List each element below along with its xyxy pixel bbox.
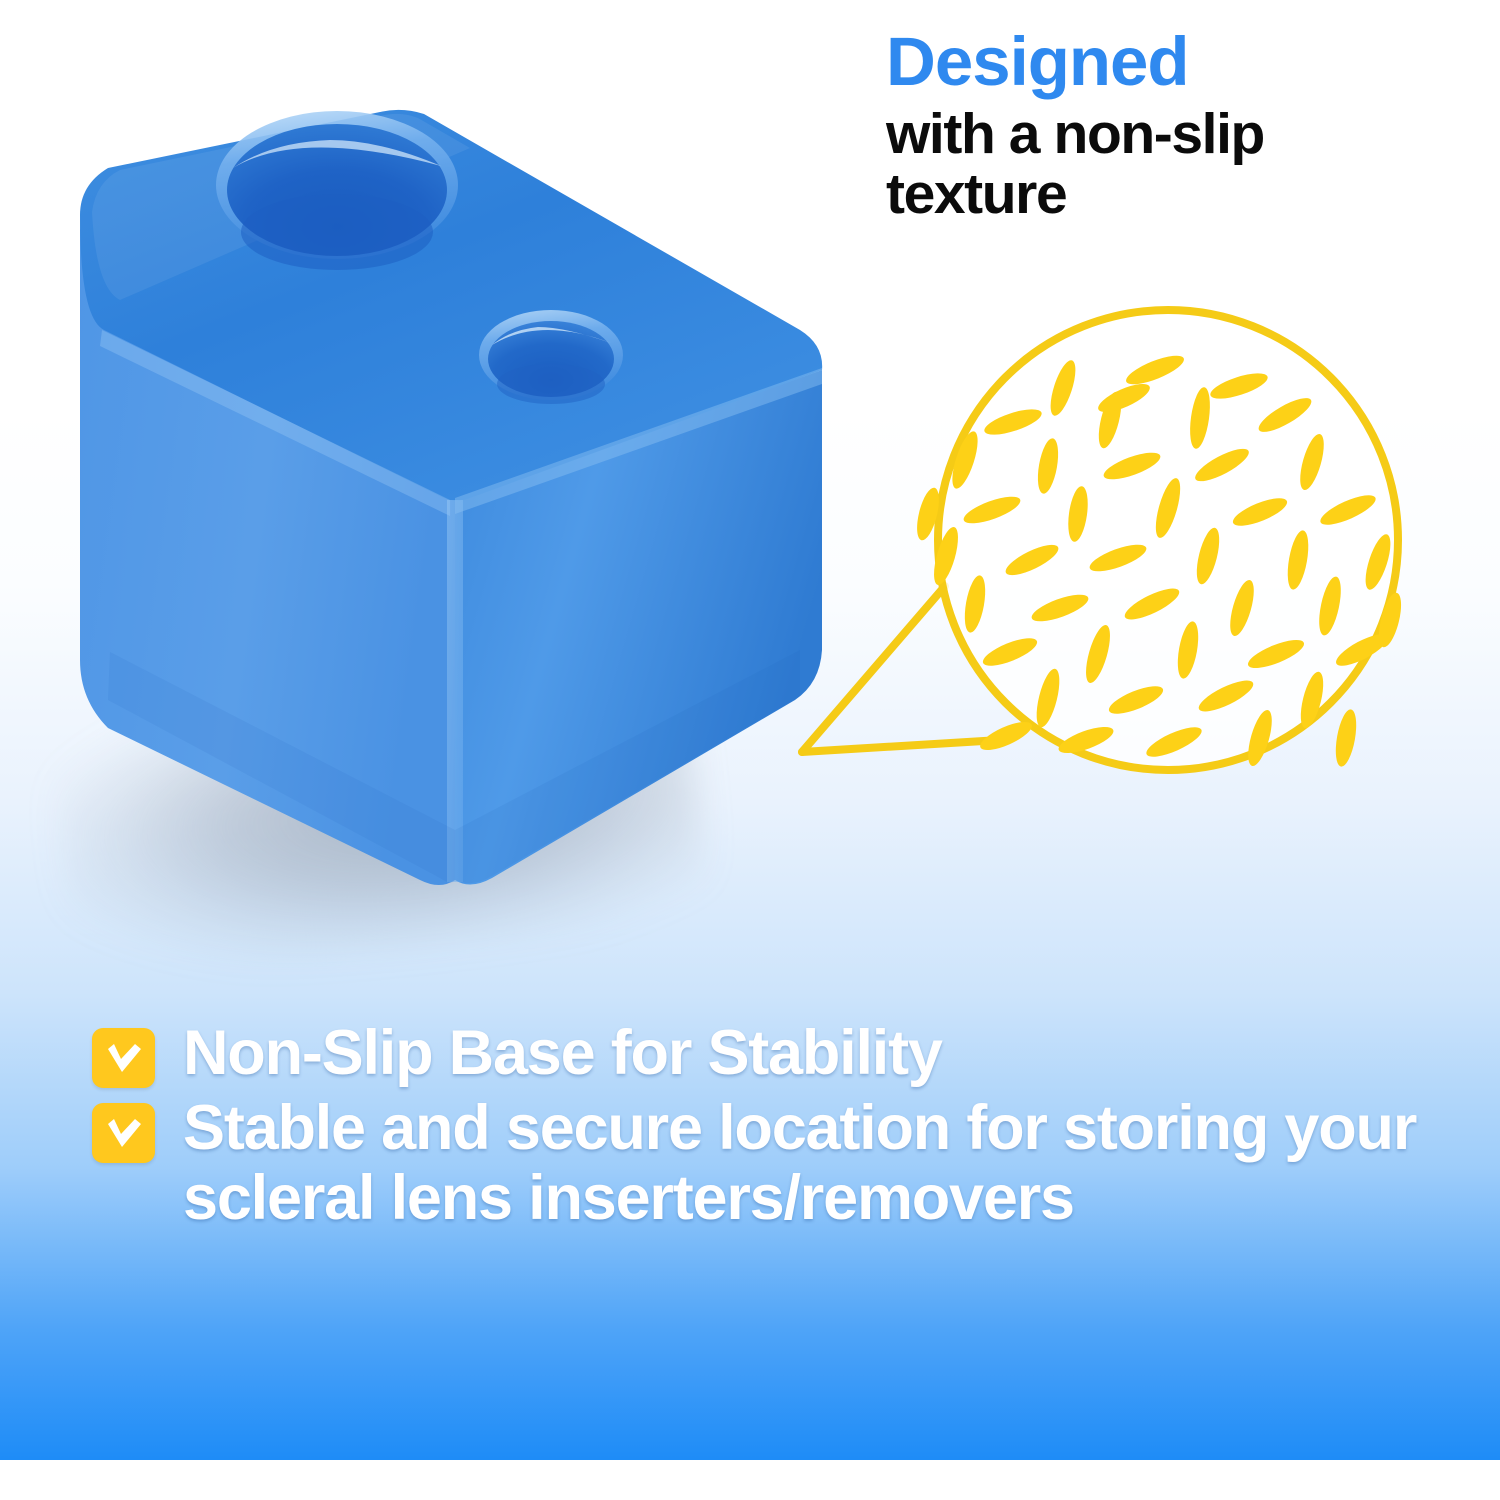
checkmark-icon bbox=[92, 1103, 155, 1163]
block-front-edge-highlight bbox=[447, 500, 463, 882]
small-hole bbox=[479, 310, 623, 404]
background-bottom-band bbox=[0, 1460, 1500, 1500]
headline-accent: Designed bbox=[886, 28, 1486, 96]
infographic-canvas: Designed with a non-slip texture bbox=[0, 0, 1500, 1500]
bullet-label-2: Stable and secure location for storing y… bbox=[183, 1093, 1432, 1234]
large-hole bbox=[216, 111, 458, 270]
headline-block: Designed with a non-slip texture bbox=[886, 28, 1486, 224]
headline-body: with a non-slip texture bbox=[886, 104, 1426, 225]
list-item: Non-Slip Base for Stability bbox=[92, 1018, 1432, 1089]
magnifier-circle bbox=[938, 310, 1398, 770]
texture-callout bbox=[760, 270, 1460, 810]
feature-bullet-list: Non-Slip Base for Stability Stable and s… bbox=[92, 1018, 1432, 1238]
checkmark-icon bbox=[92, 1028, 155, 1088]
bullet-label-1: Non-Slip Base for Stability bbox=[183, 1018, 942, 1089]
list-item: Stable and secure location for storing y… bbox=[92, 1093, 1432, 1234]
